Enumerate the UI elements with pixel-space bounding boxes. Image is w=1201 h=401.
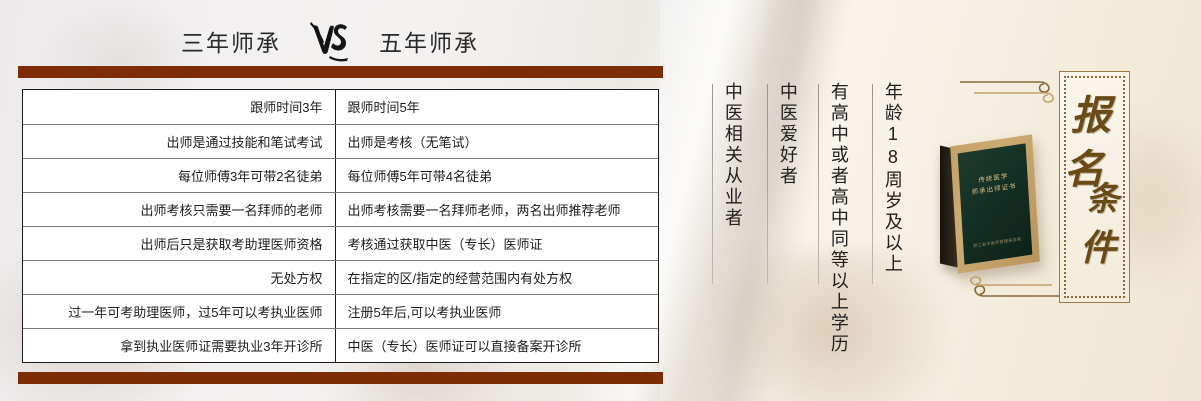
calligraphy-char-3: 件 [1080, 230, 1116, 266]
requirement-item-0: 中医相关从业者 [720, 82, 745, 229]
panel-calligraphy: 报 名 条 件 [1060, 72, 1129, 302]
table-cell-right: 跟师时间5年 [335, 90, 658, 124]
header-right-label: 五年师承 [379, 24, 479, 58]
book-cover: 传统医学 师承出师证书 浙江省中医药管理局监制 [950, 134, 1040, 273]
table-row: 出师考核只需要一名拜师的老师 出师考核需要一名拜师老师，两名出师推荐老师 [23, 192, 658, 226]
certificate-book: 传统医学 师承出师证书 浙江省中医药管理局监制 [940, 140, 1050, 270]
table-cell-left: 跟师时间3年 [23, 90, 335, 124]
requirement-item-3: 年龄18周岁及以上 [880, 82, 905, 275]
requirement-item-2: 有高中或者高中同等以上学历 [826, 82, 851, 355]
requirement-divider [872, 84, 873, 284]
calligraphy-char-2: 条 [1086, 184, 1119, 217]
book-publisher: 浙江省中医药管理局监制 [963, 235, 1031, 251]
scroll-curl-bottom-icon [966, 272, 1066, 309]
vs-icon [307, 20, 353, 62]
scroll-curl-top-icon [960, 76, 1060, 113]
requirement-item-1: 中医爱好者 [775, 82, 800, 187]
requirement-divider [767, 84, 768, 284]
table-cell-right: 注册5年后,可以考执业医师 [335, 294, 658, 328]
table-row: 出师是通过技能和笔试考试 出师是考核（无笔试） [23, 124, 658, 158]
table-cell-right: 出师是考核（无笔试） [335, 124, 658, 158]
table-row: 拿到执业医师证需要执业3年开诊所 中医（专长）医师证可以直接备案开诊所 [23, 328, 658, 362]
table-cell-left: 无处方权 [23, 260, 335, 294]
comparison-header: 三年师承 五年师承 [0, 18, 660, 64]
table-row: 跟师时间3年 跟师时间5年 [23, 90, 658, 124]
table-cell-right: 考核通过获取中医（专长）医师证 [335, 226, 658, 260]
bottom-accent-bar [18, 372, 663, 384]
table-cell-left: 出师后只是获取考助理医师资格 [23, 226, 335, 260]
poster-root: 三年师承 五年师承 跟师时间3年 跟师时间5年 出师是通过技能和笔试考试 出师是 [0, 0, 1201, 401]
table-cell-right: 每位师傅5年可带4名徒弟 [335, 158, 658, 192]
requirement-divider [712, 84, 713, 284]
requirement-divider [818, 84, 819, 284]
table-row: 每位师傅3年可带2名徒弟 每位师傅5年可带4名徒弟 [23, 158, 658, 192]
comparison-table-wrapper: 跟师时间3年 跟师时间5年 出师是通过技能和笔试考试 出师是考核（无笔试） 每位… [22, 89, 659, 363]
book-inner-panel: 传统医学 师承出师证书 浙江省中医药管理局监制 [958, 143, 1033, 264]
calligraphy-char-0: 报 [1071, 96, 1111, 136]
header-left-label: 三年师承 [181, 24, 281, 58]
table-row: 无处方权 在指定的区/指定的经营范围内有处方权 [23, 260, 658, 294]
comparison-table: 跟师时间3年 跟师时间5年 出师是通过技能和笔试考试 出师是考核（无笔试） 每位… [23, 90, 658, 362]
registration-requirements-panel: 报 名 条 件 [1059, 71, 1130, 303]
requirements-list: 中医相关从业者 中医爱好者 有高中或者高中同等以上学历 年龄18周岁及以上 [700, 0, 930, 401]
top-accent-bar [18, 66, 663, 78]
table-cell-left: 出师考核只需要一名拜师的老师 [23, 192, 335, 226]
table-cell-left: 拿到执业医师证需要执业3年开诊所 [23, 328, 335, 362]
table-cell-right: 出师考核需要一名拜师老师，两名出师推荐老师 [335, 192, 658, 226]
table-row: 过一年可考助理医师，过5年可以考执业医师 注册5年后,可以考执业医师 [23, 294, 658, 328]
table-cell-left: 每位师傅3年可带2名徒弟 [23, 158, 335, 192]
table-cell-left: 出师是通过技能和笔试考试 [23, 124, 335, 158]
table-cell-right: 中医（专长）医师证可以直接备案开诊所 [335, 328, 658, 362]
comparison-table-body: 跟师时间3年 跟师时间5年 出师是通过技能和笔试考试 出师是考核（无笔试） 每位… [23, 90, 658, 362]
table-row: 出师后只是获取考助理医师资格 考核通过获取中医（专长）医师证 [23, 226, 658, 260]
table-cell-left: 过一年可考助理医师，过5年可以考执业医师 [23, 294, 335, 328]
table-cell-right: 在指定的区/指定的经营范围内有处方权 [335, 260, 658, 294]
